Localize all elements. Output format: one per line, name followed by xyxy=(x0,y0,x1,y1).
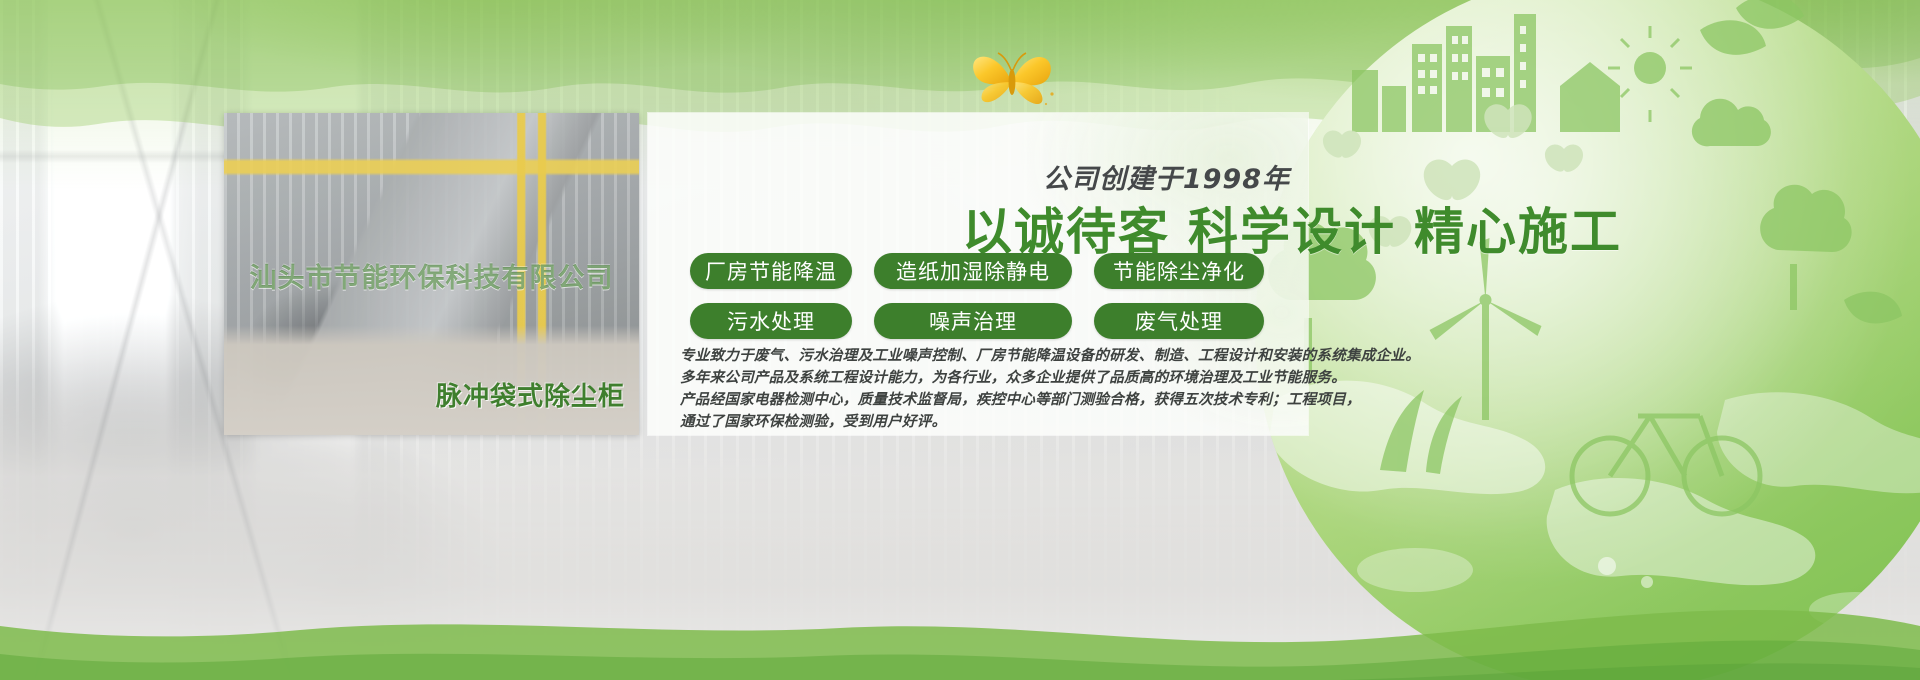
photo-watermark: 汕头市节能环保科技有限公司 xyxy=(224,256,639,295)
service-tag[interactable]: 造纸加湿除静电 xyxy=(874,253,1072,289)
service-tag[interactable]: 噪声治理 xyxy=(874,303,1072,339)
founded-row: 公司创建于1998年 xyxy=(678,157,1290,193)
photo-caption: 脉冲袋式除尘柜 xyxy=(436,376,625,413)
description-line: 多年来公司产品及系统工程设计能力，为各行业，众多企业提供了品质高的环境治理及工业… xyxy=(680,367,1320,389)
service-tag[interactable]: 废气处理 xyxy=(1094,303,1264,339)
founded-text: 公司创建于1998年 xyxy=(678,157,1290,196)
service-tag[interactable]: 厂房节能降温 xyxy=(690,253,852,289)
product-photo[interactable]: 汕头市节能环保科技有限公司 脉冲袋式除尘柜 xyxy=(224,113,639,435)
description-line: 专业致力于废气、污水治理及工业噪声控制、厂房节能降温设备的研发、制造、工程设计和… xyxy=(680,345,1320,367)
service-tag[interactable]: 节能除尘净化 xyxy=(1094,253,1264,289)
bottom-green-swoosh xyxy=(0,530,1920,680)
description-line: 产品经国家电器检测中心，质量技术监督局，疾控中心等部门测验合格，获得五次技术专利… xyxy=(680,389,1320,411)
service-tag-list: 厂房节能降温 造纸加湿除静电 节能除尘净化 污水处理 噪声治理 废气处理 xyxy=(690,253,1290,339)
headline-part-3: 精心施工 xyxy=(1414,203,1622,261)
promo-banner: 汕头市节能环保科技有限公司 脉冲袋式除尘柜 公司创建于1998年 以诚待客科学设… xyxy=(0,0,1920,680)
yellow-butterfly-icon xyxy=(966,42,1058,120)
description-line: 通过了国家环保检测验，受到用户好评。 xyxy=(680,411,1320,433)
company-description: 专业致力于废气、污水治理及工业噪声控制、厂房节能降温设备的研发、制造、工程设计和… xyxy=(680,345,1320,433)
service-tag[interactable]: 污水处理 xyxy=(690,303,852,339)
headline-block: 公司创建于1998年 xyxy=(678,157,1290,193)
